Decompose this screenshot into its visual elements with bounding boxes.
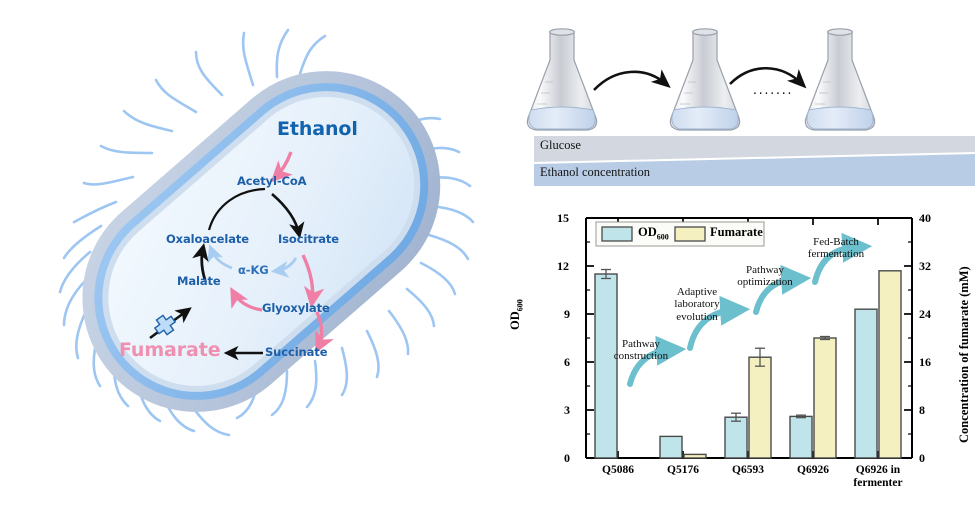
y2tick-24: 24 (919, 307, 931, 322)
y2tick-16: 16 (919, 355, 931, 370)
bar-od600-1 (660, 436, 682, 458)
y2tick-32: 32 (919, 259, 931, 274)
legend-label-od600: OD600 (638, 225, 669, 242)
right-axis-ticks (904, 218, 912, 458)
node-label-fumarate: Fumarate (119, 339, 221, 361)
bar-chart-panel: OD600 Fumarate 0 3 6 9 12 15 0 8 16 24 3… (520, 208, 975, 525)
glucose-label: Glucose (540, 138, 581, 153)
cell-pathway-panel: Ethanol Acetyl-CoA Oxaloacelate Isocitra… (0, 0, 500, 525)
y2-axis-title: Concentration of fumarate (mM) (957, 266, 972, 443)
annotation-pathway-optimization: Pathway optimization (723, 264, 807, 289)
bar-fumarate-1 (684, 454, 706, 458)
figure-root: Ethanol Acetyl-CoA Oxaloacelate Isocitra… (0, 0, 975, 525)
y-axis-title-sub: 600 (516, 299, 525, 311)
flask-1 (527, 29, 596, 130)
left-axis-ticks (586, 218, 594, 458)
flask-series-panel: ······· Glucose Ethanol concentration (520, 10, 975, 205)
arrow-flask2-to-flask3 (730, 68, 802, 84)
legend-od-base: OD (638, 225, 657, 239)
legend-swatch-fumarate (675, 227, 705, 241)
ytick-6: 6 (564, 355, 570, 370)
node-label-acetyl-coa: Acetyl-CoA (237, 174, 306, 188)
node-label-oxaloacelate: Oxaloacelate (166, 232, 249, 246)
bar-od600-3 (790, 416, 812, 458)
xtick-q6926-fermenter: Q6926 in fermenter (838, 464, 918, 490)
node-label-akg: α-KG (238, 263, 269, 277)
node-label-malate: Malate (177, 274, 221, 288)
annotation-adaptive-lab-evolution: Adaptive laboratory evolution (660, 286, 734, 323)
ytick-12: 12 (557, 259, 569, 274)
bar-od600-4 (855, 309, 877, 458)
annotation-fed-batch-fermentation: Fed-Batch fermentation (788, 236, 884, 261)
bar-fumarate-2 (749, 357, 771, 458)
bar-fumarate-4 (879, 271, 901, 458)
gradient-bands (520, 136, 975, 192)
ethanol-concentration-label: Ethanol concentration (540, 165, 650, 180)
legend-label-fumarate: Fumarate (710, 225, 763, 240)
ytick-9: 9 (564, 307, 570, 322)
bar-od600-0 (595, 274, 617, 458)
bar-fumarate-3 (814, 338, 836, 458)
legend-swatch-od600 (602, 227, 632, 241)
y2tick-8: 8 (919, 403, 925, 418)
ytick-15: 15 (557, 211, 569, 226)
ytick-3: 3 (564, 403, 570, 418)
node-label-isocitrate: Isocitrate (278, 232, 339, 246)
y-axis-title-base: OD (508, 311, 522, 330)
arrow-flask1-to-flask2 (594, 72, 666, 90)
y2tick-0: 0 (919, 451, 925, 466)
ellipsis-label: ······· (753, 87, 793, 102)
ytick-0: 0 (564, 451, 570, 466)
bar-od600-2 (725, 417, 747, 458)
cell-body (36, 24, 487, 458)
node-label-succinate: Succinate (265, 345, 327, 359)
y-axis-title: OD600 (508, 299, 525, 330)
legend-od-sub: 600 (657, 233, 669, 242)
flask-3 (805, 29, 874, 130)
node-label-ethanol: Ethanol (277, 118, 358, 140)
annotation-pathway-construction: Pathway construction (598, 338, 684, 363)
y2tick-40: 40 (919, 211, 931, 226)
flask-2 (670, 29, 739, 130)
node-label-glyoxylate: Glyoxylate (262, 301, 330, 315)
